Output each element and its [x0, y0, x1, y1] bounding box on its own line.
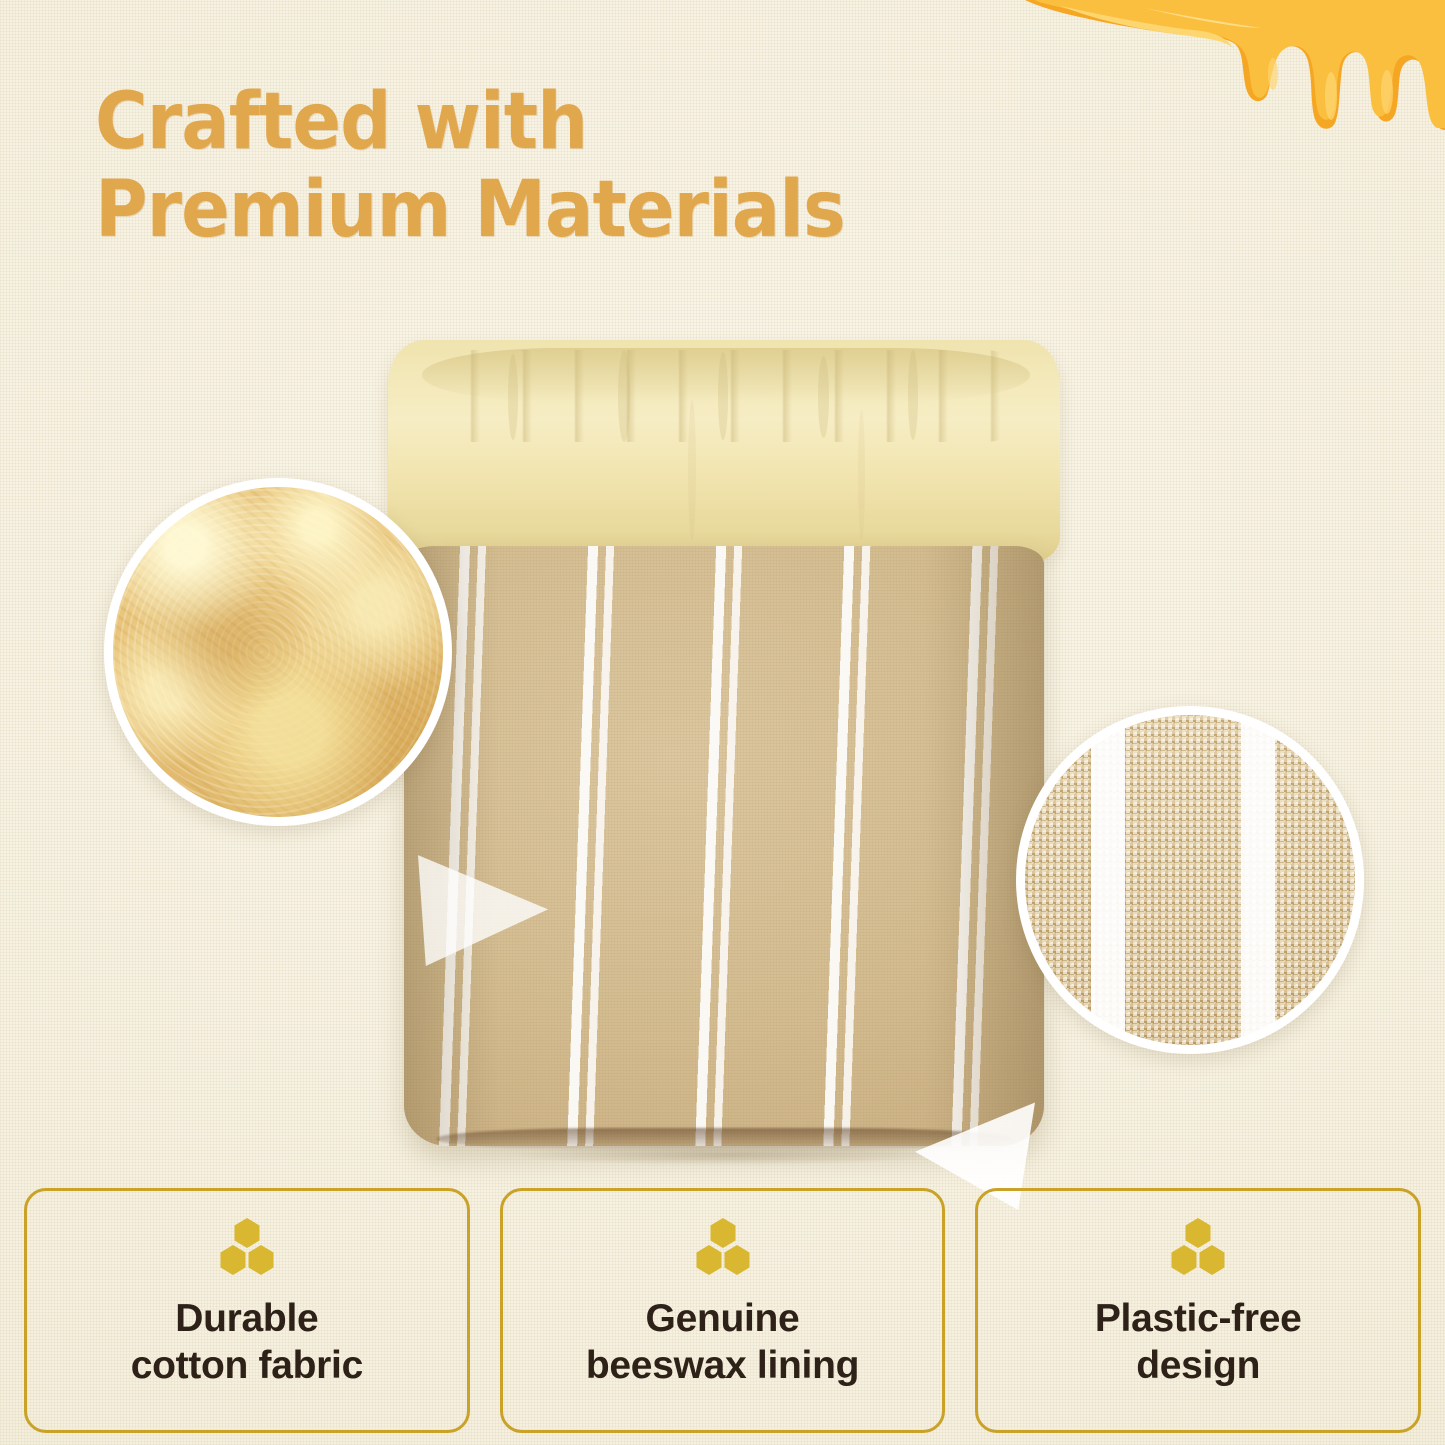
feature-card-label: Durable cotton fabric [131, 1295, 363, 1389]
infographic-canvas: Crafted with Premium Materials [0, 0, 1445, 1445]
headline-line-2: Premium Materials [95, 166, 1015, 254]
callout-beeswax-texture [104, 478, 452, 826]
feature-card-label: Genuine beeswax lining [586, 1295, 859, 1389]
honeycomb-icon [692, 1217, 754, 1277]
feature-card-plastic-free[interactable]: Plastic-free design [975, 1188, 1421, 1433]
feature-card-cotton-fabric[interactable]: Durable cotton fabric [24, 1188, 470, 1433]
feature-cards: Durable cotton fabric Genuine beeswax li… [0, 1188, 1445, 1433]
page-title: Crafted with Premium Materials [95, 78, 1095, 254]
honeycomb-icon [1167, 1217, 1229, 1277]
feature-card-beeswax-lining[interactable]: Genuine beeswax lining [500, 1188, 946, 1433]
callout-weave-texture [1016, 706, 1364, 1054]
honeycomb-icon [216, 1217, 278, 1277]
bag-beeswax-cuff [388, 340, 1060, 562]
feature-card-label: Plastic-free design [1095, 1295, 1302, 1389]
headline-line-1: Crafted with [95, 78, 1015, 166]
bag-striped-body [404, 546, 1044, 1146]
